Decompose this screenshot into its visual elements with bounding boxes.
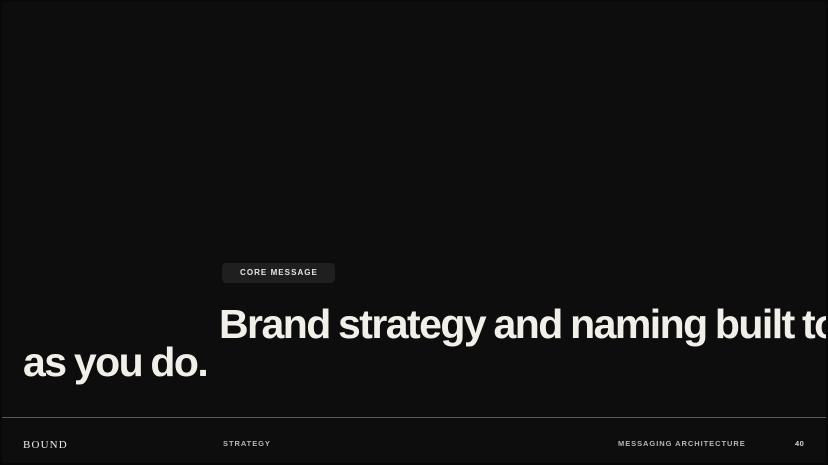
- footer-brand-wordmark: BOUND: [23, 440, 68, 451]
- footer-chapter-label: MESSAGING ARCHITECTURE: [618, 440, 746, 448]
- slide-headline: Brand strategy and naming built to move …: [2, 305, 828, 381]
- badge-row: CORE MESSAGE: [222, 262, 335, 283]
- core-message-badge: CORE MESSAGE: [222, 263, 335, 283]
- presentation-slide: CORE MESSAGE Brand strategy and naming b…: [0, 0, 828, 465]
- headline-line-1: Brand strategy and naming built to move …: [2, 305, 828, 343]
- slide-footer: BOUND STRATEGY MESSAGING ARCHITECTURE 40: [2, 418, 828, 465]
- headline-line-2: as you do.: [2, 343, 828, 381]
- footer-page-number: 40: [795, 440, 804, 448]
- footer-section-label: STRATEGY: [223, 440, 271, 448]
